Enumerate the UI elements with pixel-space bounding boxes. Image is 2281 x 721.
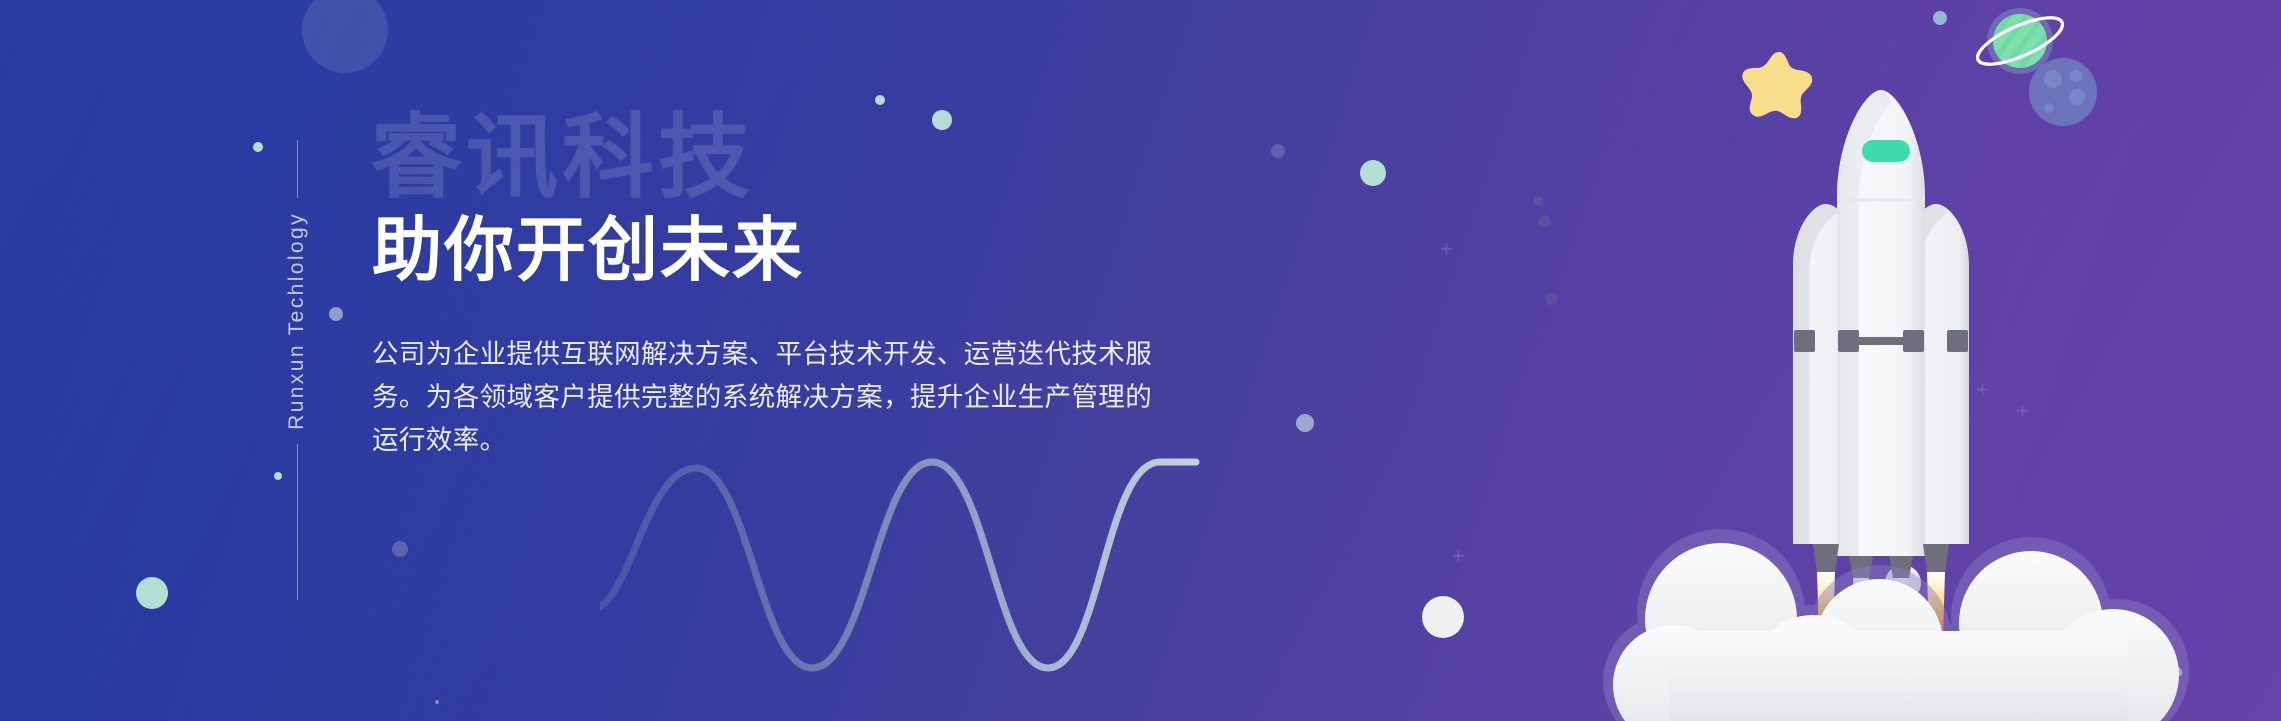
cloud-icon xyxy=(1601,521,2221,721)
hero-text-block: 睿讯科技 助你开创未来 公司为企业提供互联网解决方案、平台技术开发、运营迭代技术… xyxy=(372,120,1192,490)
vertical-rule-top xyxy=(297,140,298,198)
decorative-dot xyxy=(1271,144,1285,158)
hero-banner: ++++++ Runxun Techlology 睿讯科技 助你开创未来 公司为… xyxy=(0,0,2281,721)
decorative-dot xyxy=(329,307,343,321)
decorative-dot xyxy=(875,95,885,105)
decorative-dot xyxy=(136,577,168,609)
decorative-dot xyxy=(435,700,439,704)
rocket-illustration xyxy=(1501,0,2281,721)
decorative-plus-icon: + xyxy=(1452,545,1465,567)
decorative-dot xyxy=(253,142,263,152)
decorative-dot xyxy=(1296,414,1314,432)
rocket-window xyxy=(1862,140,1910,162)
decorative-dot xyxy=(1422,596,1464,638)
brand-vertical-label: Runxun Techlology xyxy=(274,140,320,600)
hero-description: 公司为企业提供互联网解决方案、平台技术开发、运营迭代技术服务。为各领域客户提供完… xyxy=(372,334,1162,463)
decorative-dot xyxy=(302,0,388,73)
page-title: 助你开创未来 xyxy=(372,214,1192,288)
decorative-plus-icon: + xyxy=(1440,238,1453,260)
moon-icon xyxy=(2029,58,2097,126)
vertical-rule-bottom xyxy=(297,444,298,600)
decorative-dot xyxy=(1360,160,1386,186)
brand-vertical-text: Runxun Techlology xyxy=(285,198,309,444)
decorative-dot xyxy=(392,541,408,557)
watermark-company-name: 睿讯科技 xyxy=(370,112,754,204)
